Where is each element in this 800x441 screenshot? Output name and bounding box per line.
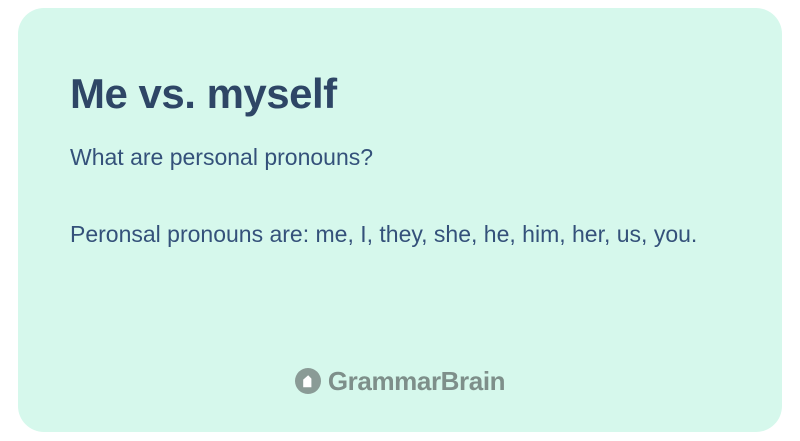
- subtitle-question: What are personal pronouns?: [70, 143, 736, 173]
- brand-footer: GrammarBrain: [18, 368, 782, 394]
- content-card: Me vs. myself What are personal pronouns…: [18, 8, 782, 432]
- body-paragraph: Peronsal pronouns are: me, I, they, she,…: [70, 217, 730, 253]
- page-root: Me vs. myself What are personal pronouns…: [0, 0, 800, 441]
- brand-name-label: GrammarBrain: [328, 368, 505, 394]
- page-title: Me vs. myself: [70, 70, 736, 117]
- house-badge-icon: [295, 368, 321, 394]
- card-content: Me vs. myself What are personal pronouns…: [70, 70, 736, 253]
